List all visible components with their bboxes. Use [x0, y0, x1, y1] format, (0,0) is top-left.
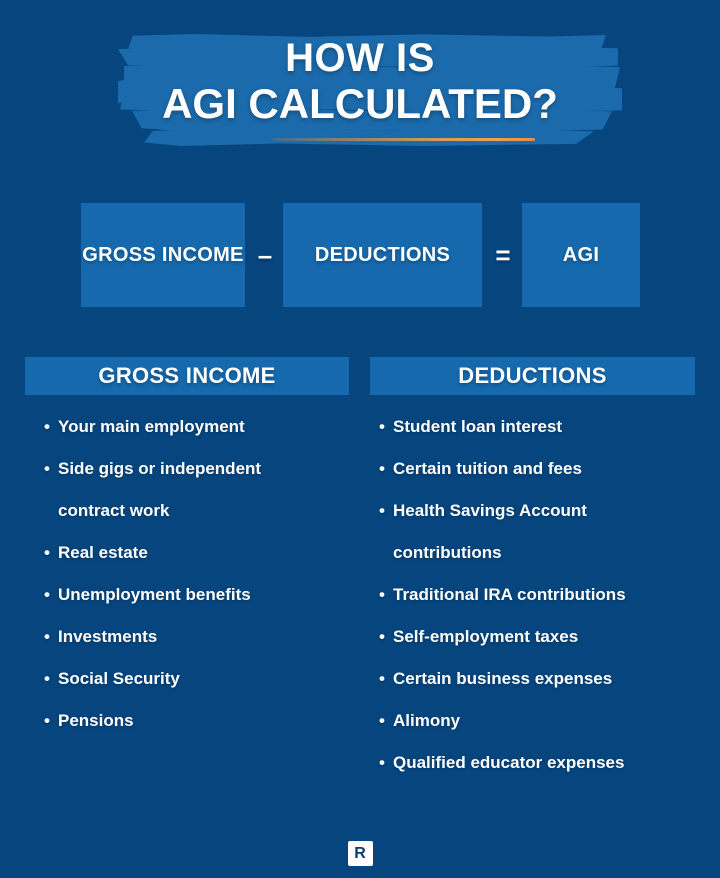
footer: R: [0, 828, 720, 878]
title-line-2: AGI CALCULATED?: [0, 81, 720, 126]
bullet-dot-icon: •: [379, 406, 393, 448]
bullet-dot-icon: •: [44, 406, 58, 448]
title-block: HOW IS AGI CALCULATED?: [0, 0, 720, 170]
list-item: •Traditional IRA contributions: [379, 574, 704, 616]
section-header-bars: GROSS INCOME DEDUCTIONS: [0, 357, 720, 395]
bullet-dot-icon: •: [379, 616, 393, 658]
list-item: •Investments: [44, 616, 364, 658]
bullet-dot-icon: •: [379, 574, 393, 616]
list-item-label: Social Security: [58, 658, 364, 700]
list-item-label: Pensions: [58, 700, 364, 742]
section-header-deductions: DEDUCTIONS: [370, 357, 695, 395]
bullet-dot-icon: •: [379, 742, 393, 784]
list-item: •Social Security: [44, 658, 364, 700]
bullet-dot-icon: •: [44, 700, 58, 742]
ramsey-logo-icon: R: [348, 841, 373, 866]
list-item-label: Investments: [58, 616, 364, 658]
formula-box-deductions: DEDUCTIONS: [283, 203, 482, 307]
formula-box-gross-income: GROSS INCOME: [81, 203, 245, 307]
list-item: •Alimony: [379, 700, 704, 742]
list-item: •Health Savings Account contributions: [379, 490, 704, 574]
list-item: •Unemployment benefits: [44, 574, 364, 616]
list-item-label: Certain tuition and fees: [393, 448, 704, 490]
list-item: •Side gigs or independent contract work: [44, 448, 364, 532]
list-item: •Student loan interest: [379, 406, 704, 448]
page-title: HOW IS AGI CALCULATED?: [0, 36, 720, 126]
list-item-label: Student loan interest: [393, 406, 704, 448]
list-item-label: Your main employment: [58, 406, 364, 448]
list-item-label: Traditional IRA contributions: [393, 574, 704, 616]
title-underline-accent: [272, 138, 535, 141]
list-item-label: Unemployment benefits: [58, 574, 364, 616]
list-item: •Qualified educator expenses: [379, 742, 704, 784]
list-item-label: Qualified educator expenses: [393, 742, 704, 784]
formula-row: GROSS INCOME – DEDUCTIONS = AGI: [0, 203, 720, 307]
list-item: •Certain business expenses: [379, 658, 704, 700]
title-line-1: HOW IS: [0, 36, 720, 81]
bullet-dot-icon: •: [379, 700, 393, 742]
list-gross-income: •Your main employment•Side gigs or indep…: [44, 406, 364, 742]
bullet-dot-icon: •: [379, 658, 393, 700]
list-item-label: Certain business expenses: [393, 658, 704, 700]
list-item: •Certain tuition and fees: [379, 448, 704, 490]
list-deductions: •Student loan interest•Certain tuition a…: [379, 406, 704, 784]
list-item: •Pensions: [44, 700, 364, 742]
list-item-label: Side gigs or independent contract work: [58, 448, 364, 532]
formula-operator-equals: =: [484, 203, 522, 307]
list-item-label: Health Savings Account contributions: [393, 490, 704, 574]
list-item: •Real estate: [44, 532, 364, 574]
bullet-columns: •Your main employment•Side gigs or indep…: [0, 406, 720, 806]
formula-operator-minus: –: [248, 203, 282, 307]
list-item: •Self-employment taxes: [379, 616, 704, 658]
bullet-dot-icon: •: [44, 616, 58, 658]
formula-box-agi: AGI: [522, 203, 640, 307]
bullet-dot-icon: •: [379, 448, 393, 490]
list-item-label: Real estate: [58, 532, 364, 574]
list-item-label: Alimony: [393, 700, 704, 742]
list-item: •Your main employment: [44, 406, 364, 448]
infographic-canvas: HOW IS AGI CALCULATED? GROSS INCOME – DE…: [0, 0, 720, 878]
section-header-gross-income: GROSS INCOME: [25, 357, 349, 395]
bullet-dot-icon: •: [44, 574, 58, 616]
bullet-dot-icon: •: [44, 448, 58, 490]
bullet-dot-icon: •: [379, 490, 393, 532]
list-item-label: Self-employment taxes: [393, 616, 704, 658]
bullet-dot-icon: •: [44, 658, 58, 700]
bullet-dot-icon: •: [44, 532, 58, 574]
